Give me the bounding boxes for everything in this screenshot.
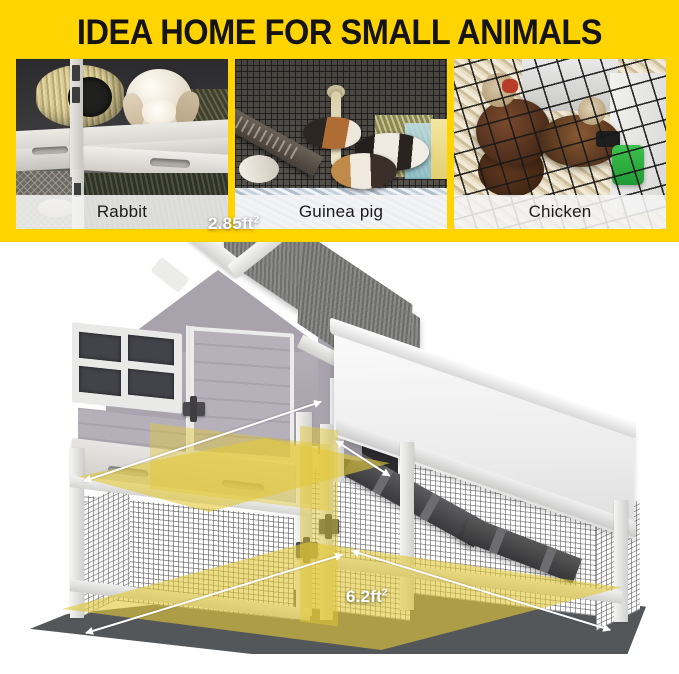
area-label-lower-value: 6.2ft [346, 587, 382, 606]
photo-caption-chicken: Chicken [454, 195, 666, 229]
photo-caption-guinea-pig: Guinea pig [235, 195, 447, 229]
hutch-post [70, 59, 83, 177]
photo-card-guinea-pig: Guinea pig [235, 59, 447, 229]
photo-card-rabbit: Rabbit [16, 59, 228, 229]
area-label-upper-exponent: 2 [254, 214, 260, 225]
header-banner: IDEA HOME FOR SMALL ANIMALS [0, 0, 679, 242]
door-latch-upper[interactable] [183, 402, 205, 416]
frame-post-right [400, 442, 414, 610]
area-label-upper-value: 2.85ft [208, 214, 254, 233]
yellow-container [431, 119, 447, 179]
rabbit-face [142, 99, 176, 125]
guinea-pig-1 [303, 117, 361, 149]
animal-photo-row: Rabbit Guinea pig [16, 59, 663, 229]
window-pane [79, 366, 121, 396]
photo-caption-rabbit: Rabbit [16, 195, 228, 229]
area-label-upper-level: 2.85ft2 [208, 214, 259, 234]
page-title: IDEA HOME FOR SMALL ANIMALS [24, 13, 655, 53]
product-infographic: IDEA HOME FOR SMALL ANIMALS [0, 0, 679, 674]
product-photo [0, 242, 679, 674]
photo-card-chicken: Chicken [454, 59, 666, 229]
window-pane [128, 335, 174, 366]
window-pane [128, 369, 174, 400]
door-latch-middle[interactable] [319, 519, 339, 534]
window-pane [79, 332, 121, 362]
area-label-lower-run: 6.2ft2 [346, 587, 388, 607]
area-label-lower-exponent: 2 [382, 587, 388, 598]
guinea-pig-3 [331, 153, 397, 189]
guinea-pig-4 [239, 155, 279, 183]
door-latch-lower[interactable] [296, 542, 318, 558]
